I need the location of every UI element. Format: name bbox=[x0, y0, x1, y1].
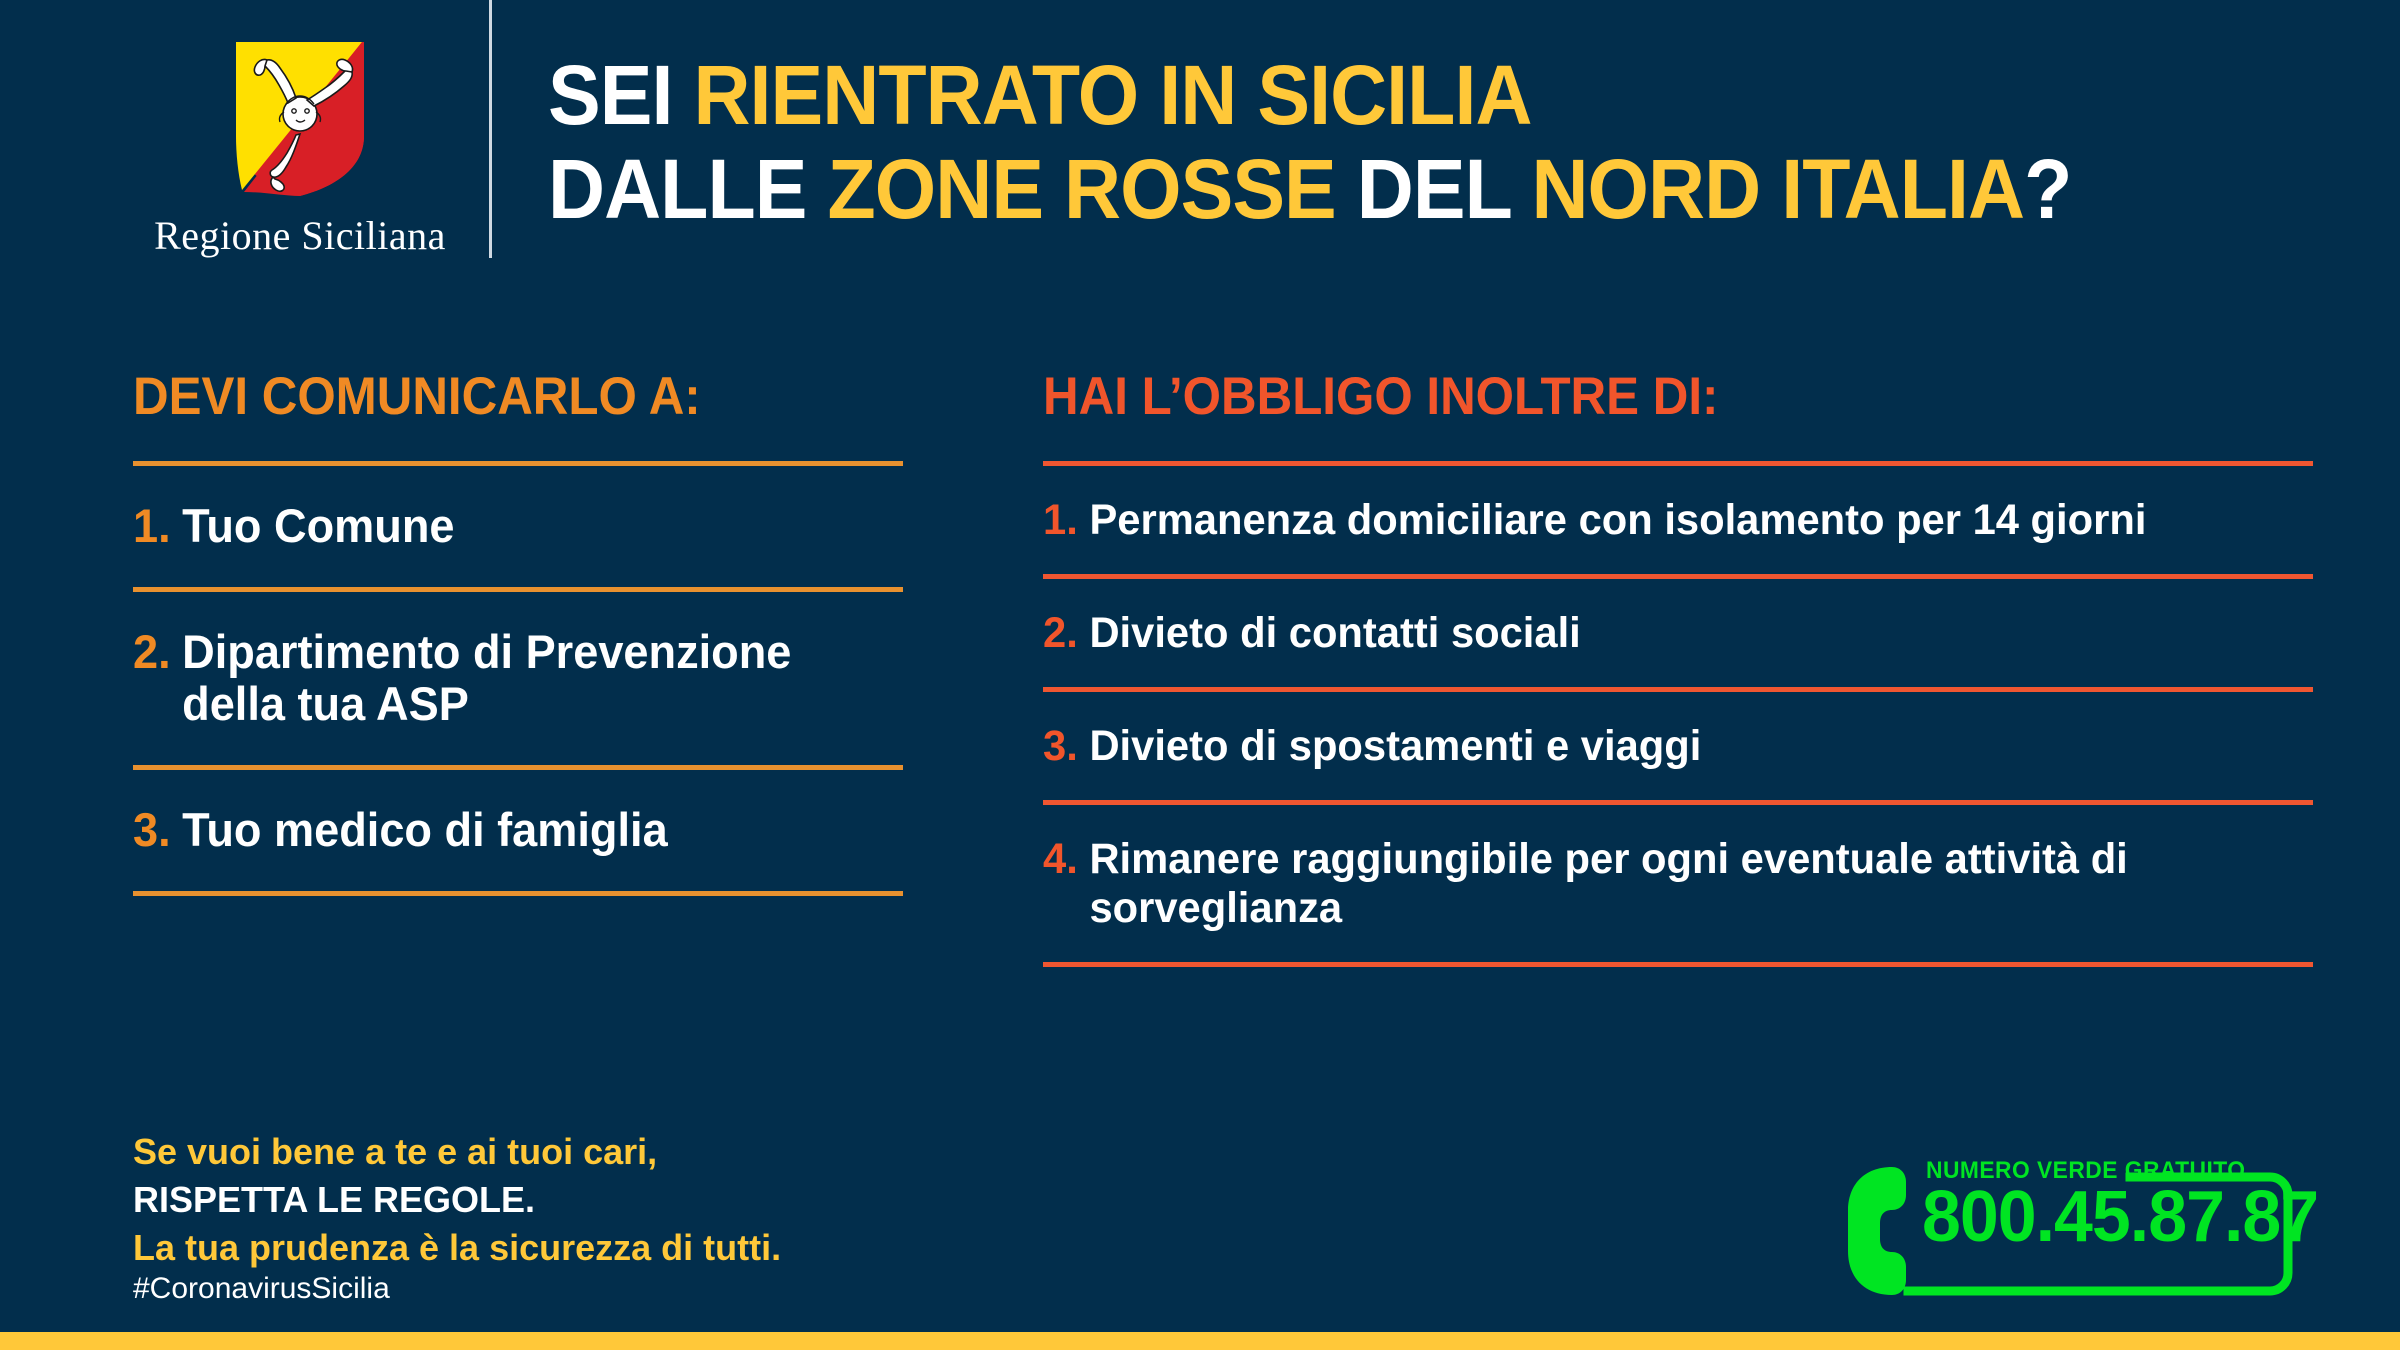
headline-seg: DALLE bbox=[548, 142, 827, 236]
logo-wordmark: Regione Siciliana bbox=[150, 212, 450, 259]
headline-seg: DEL bbox=[1357, 142, 1532, 236]
list-item-number: 1. bbox=[133, 500, 171, 553]
poster-canvas: Regione Siciliana SEI RIENTRATO IN SICIL… bbox=[0, 0, 2400, 1350]
list-item-label: Tuo medico di famiglia bbox=[182, 804, 872, 857]
headline-line-2: DALLE ZONE ROSSE DEL NORD ITALIA? bbox=[548, 142, 2240, 236]
left-column: DEVI COMUNICARLO A: 1. Tuo Comune 2. Dip… bbox=[133, 370, 903, 896]
list-item-number: 4. bbox=[1043, 835, 1078, 883]
trinacria-coat-of-arms-icon bbox=[234, 40, 366, 198]
list-item-label: Divieto di contatti sociali bbox=[1089, 609, 2274, 657]
list-item-label: Divieto di spostamenti e viaggi bbox=[1089, 722, 2274, 770]
regione-siciliana-logo: Regione Siciliana bbox=[150, 40, 450, 259]
list-item: 2. Divieto di contatti sociali bbox=[1043, 579, 2313, 687]
list-item-number: 3. bbox=[133, 804, 171, 857]
phone-number[interactable]: 800.45.87.87 bbox=[1922, 1181, 2318, 1253]
left-column-title: DEVI COMUNICARLO A: bbox=[133, 370, 849, 423]
headline-seg: SEI bbox=[548, 48, 693, 142]
list-item-number: 2. bbox=[133, 626, 171, 679]
divider-rule bbox=[133, 891, 903, 896]
headline-seg: ZONE ROSSE bbox=[827, 142, 1356, 236]
footer-message: Se vuoi bene a te e ai tuoi cari, RISPET… bbox=[133, 1128, 1033, 1272]
headline-seg: ? bbox=[2024, 142, 2071, 236]
toll-free-number-badge[interactable]: NUMERO VERDE GRATUITO 800.45.87.87 bbox=[1830, 1155, 2300, 1305]
list-item-label: Tuo Comune bbox=[182, 500, 872, 553]
footer-line-3: La tua prudenza è la sicurezza di tutti. bbox=[133, 1224, 1033, 1272]
list-item-label: Dipartimento di Prevenzione della tua AS… bbox=[182, 626, 872, 731]
headline-line-1: SEI RIENTRATO IN SICILIA bbox=[548, 48, 2240, 142]
header-divider bbox=[489, 0, 492, 258]
footer-line-1: Se vuoi bene a te e ai tuoi cari, bbox=[133, 1128, 1033, 1176]
header: Regione Siciliana SEI RIENTRATO IN SICIL… bbox=[0, 0, 2400, 290]
headline-seg: RIENTRATO IN SICILIA bbox=[693, 48, 1531, 142]
list-item: 4. Rimanere raggiungibile per ogni event… bbox=[1043, 805, 2313, 961]
list-item-label: Permanenza domiciliare con isolamento pe… bbox=[1089, 496, 2274, 544]
list-item-number: 1. bbox=[1043, 496, 1078, 544]
hashtag: #CoronavirusSicilia bbox=[133, 1272, 390, 1306]
page-title: SEI RIENTRATO IN SICILIA DALLE ZONE ROSS… bbox=[548, 48, 2240, 236]
right-column-title: HAI L’OBBLIGO INOLTRE DI: bbox=[1043, 370, 2224, 423]
list-item: 1. Permanenza domiciliare con isolamento… bbox=[1043, 466, 2313, 574]
list-item: 1. Tuo Comune bbox=[133, 466, 903, 587]
phone-handset-icon bbox=[1848, 1167, 1906, 1295]
list-item-number: 3. bbox=[1043, 722, 1078, 770]
list-item-label: Rimanere raggiungibile per ogni eventual… bbox=[1089, 835, 2274, 931]
footer-line-2: RISPETTA LE REGOLE. bbox=[133, 1176, 1033, 1224]
list-item: 2. Dipartimento di Prevenzione della tua… bbox=[133, 592, 903, 765]
list-item-number: 2. bbox=[1043, 609, 1078, 657]
headline-seg: NORD ITALIA bbox=[1531, 142, 2024, 236]
divider-rule bbox=[1043, 962, 2313, 967]
bottom-accent-bar bbox=[0, 1332, 2400, 1350]
right-column: HAI L’OBBLIGO INOLTRE DI: 1. Permanenza … bbox=[1043, 370, 2313, 967]
list-item: 3. Divieto di spostamenti e viaggi bbox=[1043, 692, 2313, 800]
list-item: 3. Tuo medico di famiglia bbox=[133, 770, 903, 891]
